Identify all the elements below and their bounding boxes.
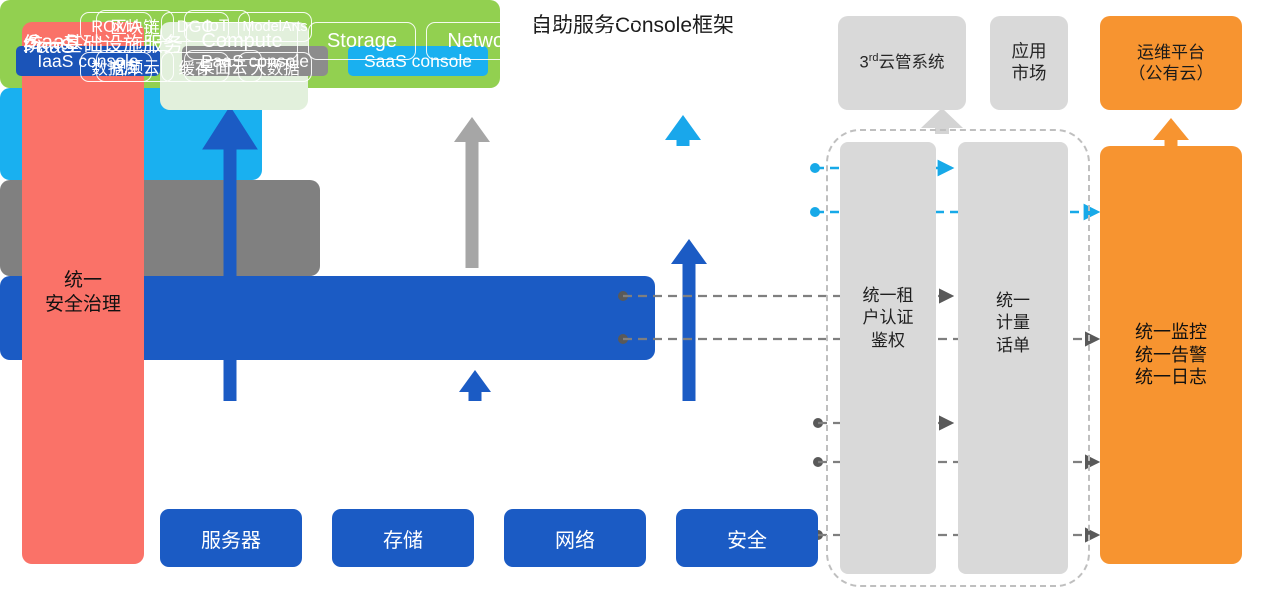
hardware-item-storage-label: 存储 xyxy=(383,524,423,553)
infrastructure-item-compute-label: Compute xyxy=(201,30,282,53)
hardware-item-security[interactable]: 安全 xyxy=(676,509,818,567)
unified-billing-column[interactable] xyxy=(958,142,1068,574)
arrow-infra-to-paas xyxy=(459,370,491,401)
third-party-cloud-label: 3rd云管系统 xyxy=(860,52,945,73)
infrastructure-layer-label: 统一基础设施服务 xyxy=(14,28,192,57)
security-governance-line1: 统一 xyxy=(45,269,121,293)
infrastructure-item-network[interactable]: Network xyxy=(426,22,542,60)
hardware-item-storage[interactable]: 存储 xyxy=(332,509,474,567)
hardware-item-network[interactable]: 网络 xyxy=(504,509,646,567)
third-party-cloud-mgmt-box[interactable]: 3rd云管系统 xyxy=(838,16,966,110)
auth-label-line3: 鉴权 xyxy=(840,330,936,352)
billing-label-line2: 计量 xyxy=(958,312,1068,334)
app-market-line1: 应用 xyxy=(1012,41,1047,63)
billing-label-line1: 统一 xyxy=(958,290,1068,312)
hardware-item-server-label: 服务器 xyxy=(201,524,261,553)
infrastructure-item-compute[interactable]: Compute xyxy=(186,22,298,60)
paas-item-database-label: 数据库 xyxy=(91,55,141,79)
ops-platform-head-line1: 运维平台 xyxy=(1129,42,1214,63)
security-governance-line2: 安全治理 xyxy=(45,293,121,317)
ops-platform-head-line2: （公有云） xyxy=(1129,63,1214,84)
ops-platform-body-box[interactable]: 统一监控 统一告警 统一日志 xyxy=(1100,146,1242,564)
ops-platform-body-line2: 统一告警 xyxy=(1135,344,1207,367)
unified-tenant-auth-label: 统一租 户认证 鉴权 xyxy=(840,285,936,352)
hardware-item-security-label: 安全 xyxy=(727,524,767,553)
unified-billing-label: 统一 计量 话单 xyxy=(958,290,1068,357)
billing-label-line3: 话单 xyxy=(958,335,1068,357)
infrastructure-item-storage[interactable]: Storage xyxy=(308,22,416,60)
hardware-item-server[interactable]: 服务器 xyxy=(160,509,302,567)
ops-platform-header-box[interactable]: 运维平台 （公有云） xyxy=(1100,16,1242,110)
third-party-cloud-prefix: 3 xyxy=(860,54,869,72)
infrastructure-item-cce[interactable]: CCE xyxy=(552,22,642,60)
arrow-saas-to-console xyxy=(665,115,701,146)
auth-label-line1: 统一租 xyxy=(840,285,936,307)
arrow-ops-body-to-head xyxy=(1153,118,1189,146)
app-market-box[interactable]: 应用 市场 xyxy=(990,16,1068,110)
architecture-diagram: 统一 安全治理 API网关 自助服务Console框架 IaaS console… xyxy=(0,0,1265,605)
infrastructure-item-storage-label: Storage xyxy=(327,30,397,53)
ops-platform-body-line3: 统一日志 xyxy=(1135,366,1207,389)
arrow-paas-to-console xyxy=(454,117,490,268)
unified-tenant-auth-column[interactable] xyxy=(840,142,936,574)
ops-platform-body-line1: 统一监控 xyxy=(1135,321,1207,344)
infrastructure-item-cce-label: CCE xyxy=(576,30,618,53)
app-market-line2: 市场 xyxy=(1012,63,1047,85)
security-governance-panel[interactable]: 统一 安全治理 xyxy=(22,22,144,564)
infrastructure-item-network-label: Network xyxy=(447,30,520,53)
arrow-infra-to-api-gateway xyxy=(212,117,248,401)
third-party-cloud-suffix: 云管系统 xyxy=(878,54,944,72)
auth-label-line2: 户认证 xyxy=(840,307,936,329)
hardware-item-network-label: 网络 xyxy=(555,524,595,553)
arrow-infra-to-saas xyxy=(671,239,707,401)
